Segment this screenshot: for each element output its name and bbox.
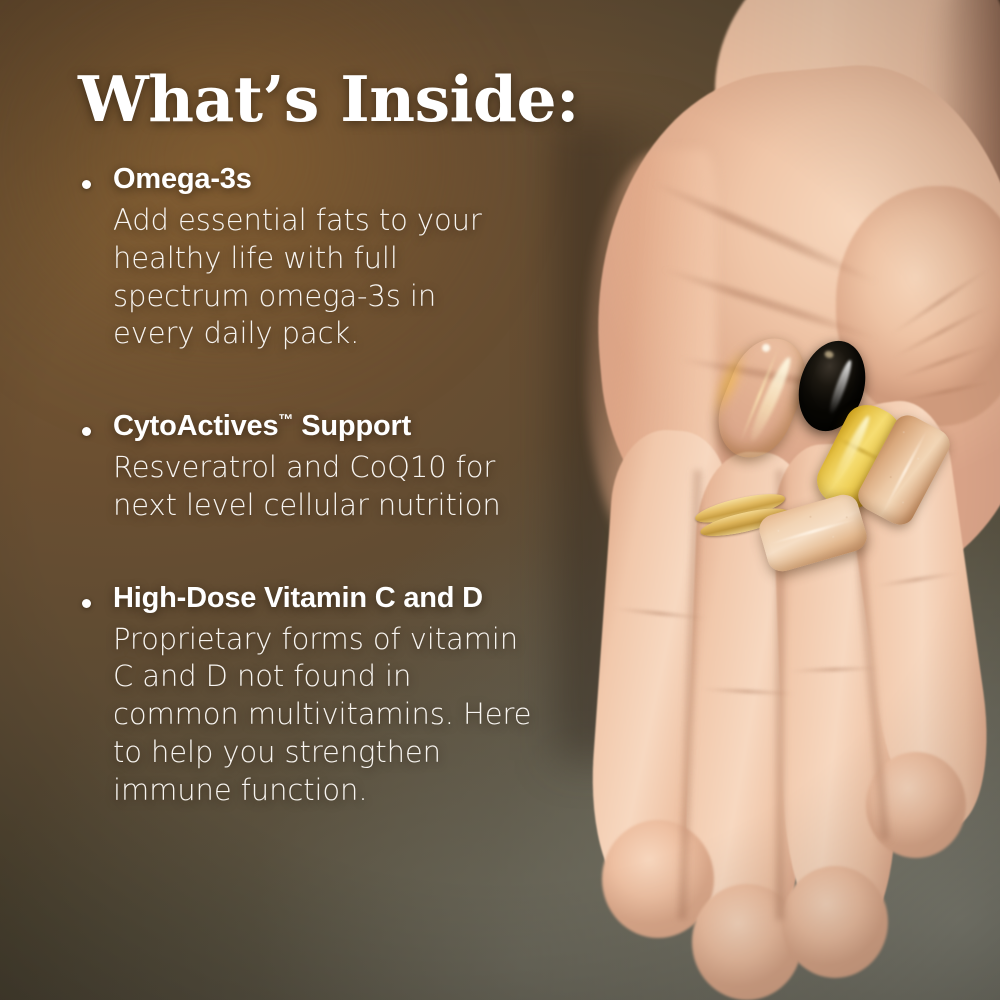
bullet-dot-icon <box>82 427 91 436</box>
benefit-description: Add essential fats to your healthy life … <box>113 202 620 353</box>
benefit-title: High-Dose Vitamin C and D <box>113 581 620 615</box>
list-item: Omega-3s Add essential fats to your heal… <box>0 162 620 353</box>
page-title: What’s Inside: <box>78 66 579 133</box>
copy-block: What’s Inside: Omega-3s Add essential fa… <box>0 0 640 1000</box>
benefit-title: CytoActives™ Support <box>113 409 620 443</box>
promo-image: What’s Inside: Omega-3s Add essential fa… <box>0 0 1000 1000</box>
bullet-dot-icon <box>82 180 91 189</box>
bullet-dot-icon <box>82 599 91 608</box>
benefit-title-main: CytoActives <box>113 410 278 442</box>
benefit-description: Resveratrol and CoQ10 for next level cel… <box>113 449 620 524</box>
list-item: High-Dose Vitamin C and D Proprietary fo… <box>0 581 620 810</box>
benefit-title: Omega-3s <box>113 162 620 196</box>
benefit-description: Proprietary forms of vitamin C and D not… <box>113 621 620 809</box>
benefit-title-suffix: Support <box>293 410 411 442</box>
list-item: CytoActives™ Support Resveratrol and CoQ… <box>0 409 620 525</box>
benefits-list: Omega-3s Add essential fats to your heal… <box>0 162 620 809</box>
trademark-icon: ™ <box>278 411 293 428</box>
